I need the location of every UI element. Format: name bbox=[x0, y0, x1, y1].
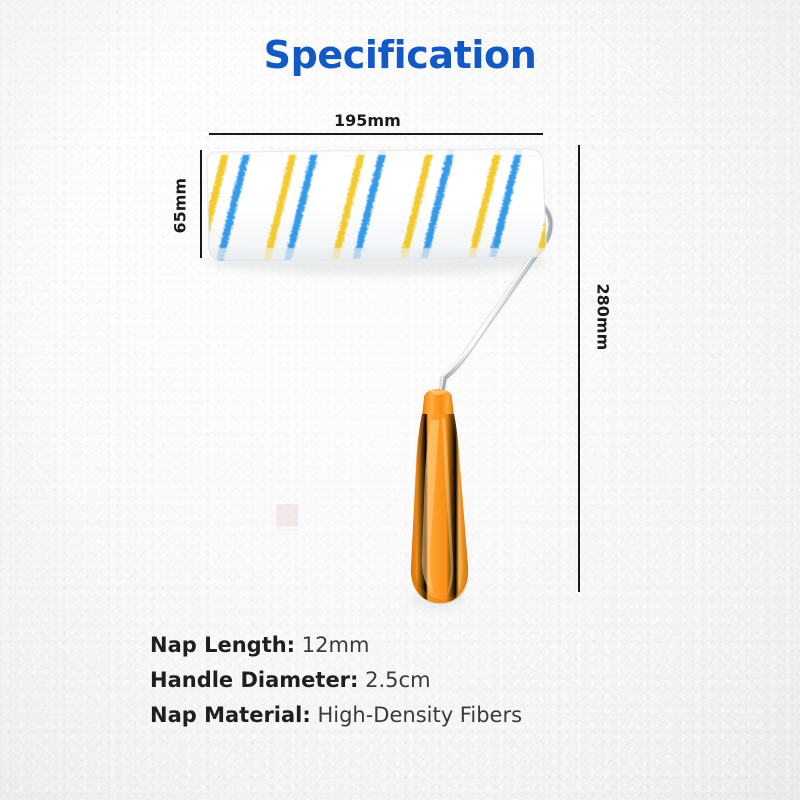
specification-page: Specification 195mm 65mm 280mm bbox=[0, 0, 800, 800]
spec-row-nap-material: Nap Material: High-Density Fibers bbox=[150, 698, 710, 733]
spec-row-handle-diameter: Handle Diameter: 2.5cm bbox=[150, 663, 710, 698]
dimension-line-height bbox=[200, 150, 202, 258]
dimension-label-height: 65mm bbox=[171, 180, 190, 234]
dimension-label-total-length: 280mm bbox=[594, 284, 613, 348]
dimension-label-width: 195mm bbox=[334, 111, 401, 130]
spec-value-nap-material: High-Density Fibers bbox=[317, 703, 522, 727]
background-artifact bbox=[276, 504, 298, 534]
spec-row-nap-length: Nap Length: 12mm bbox=[150, 628, 710, 663]
spec-key-nap-material: Nap Material: bbox=[150, 703, 311, 727]
dimension-line-total-length bbox=[578, 145, 580, 592]
specification-list: Nap Length: 12mm Handle Diameter: 2.5cm … bbox=[150, 628, 710, 733]
dimension-line-width bbox=[209, 133, 543, 135]
page-title: Specification bbox=[0, 33, 800, 77]
spec-value-nap-length: 12mm bbox=[302, 633, 370, 657]
spec-key-handle-diameter: Handle Diameter: bbox=[150, 668, 358, 692]
spec-value-handle-diameter: 2.5cm bbox=[365, 668, 430, 692]
spec-key-nap-length: Nap Length: bbox=[150, 633, 295, 657]
